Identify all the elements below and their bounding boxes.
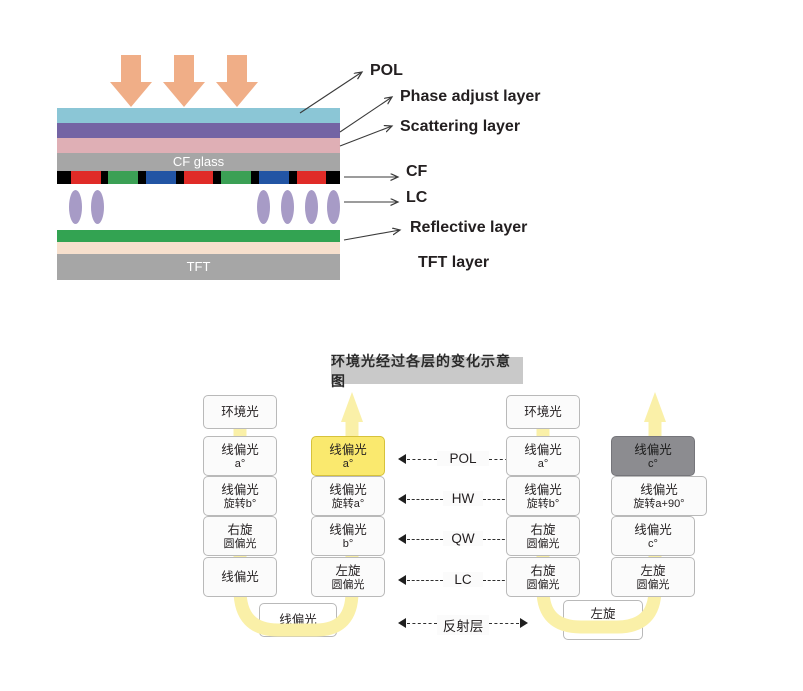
lc-molecule <box>327 190 340 224</box>
cf-color-segment <box>297 171 327 184</box>
arrow-left-icon <box>398 534 406 544</box>
callout-phase-adjust: Phase adjust layer <box>400 88 541 106</box>
arrow-left-icon <box>398 494 406 504</box>
arrow-shaft <box>174 55 194 83</box>
arrow-shaft <box>227 55 247 83</box>
dash-segment-left <box>407 623 437 624</box>
layer-pol <box>57 108 340 123</box>
flow-box-main-text: 线偏光 <box>329 443 367 458</box>
layer-scattering <box>57 138 340 153</box>
callout-reflective: Reflective layer <box>410 219 527 237</box>
flow-box-reflect-left: 线偏光 <box>259 603 337 637</box>
callout-tft: TFT layer <box>418 254 489 272</box>
flow-box-main-text: 线偏光 <box>221 570 259 585</box>
flow-box-col-1-incoming-left-right-circ: 右旋圆偏光 <box>203 516 277 556</box>
dash-segment-left <box>407 459 437 460</box>
callout-lc: LC <box>406 189 427 207</box>
flow-box-col-4-outgoing-right-linear-c2: 线偏光c° <box>611 516 695 556</box>
flow-box-main-text: 线偏光 <box>329 523 367 538</box>
cf-color-segment <box>146 171 176 184</box>
flow-box-col-4-outgoing-right-rotated-a90: 线偏光旋转a+90° <box>611 476 707 516</box>
reflective-lcd-cross-section-diagram: CF glass TFT POL Phase adjust layer Scat… <box>0 0 803 310</box>
flow-box-main-text: 线偏光 <box>640 483 678 498</box>
cf-color-segment <box>326 171 340 184</box>
flow-diagram-title: 环境光经过各层的变化示意图 <box>331 357 523 384</box>
arrow-shaft <box>121 55 141 83</box>
cf-color-segment <box>176 171 184 184</box>
flow-box-sub-text: 圆偏光 <box>527 579 560 591</box>
layer-phase-adjust <box>57 123 340 138</box>
layer-span-reflective: 反射层 <box>398 616 528 632</box>
lc-molecule <box>91 190 104 224</box>
lc-molecule <box>257 190 270 224</box>
layer-label-hw: HW <box>443 491 483 506</box>
leader-scattering <box>340 126 392 146</box>
incident-light-arrow-1 <box>110 55 152 107</box>
flow-box-col-3-incoming-right-ambient: 环境光 <box>506 395 580 429</box>
flow-box-col-2-outgoing-left-left-circ: 左旋圆偏光 <box>311 557 385 597</box>
flow-box-col-1-incoming-left-linear: 线偏光 <box>203 557 277 597</box>
callout-cf: CF <box>406 163 427 181</box>
arrow-head <box>216 82 258 107</box>
flow-box-col-4-outgoing-right-linear-c: 线偏光c° <box>611 436 695 476</box>
flow-box-sub-text: c° <box>648 538 658 550</box>
flow-box-col-3-incoming-right-linear-a: 线偏光a° <box>506 436 580 476</box>
callout-scattering: Scattering layer <box>400 118 520 136</box>
flow-box-main-text: 右旋 <box>227 523 252 538</box>
cf-glass-label: CF glass <box>57 154 340 169</box>
arrow-left-icon <box>398 575 406 585</box>
light-transformation-flow-diagram: 环境光经过各层的变化示意图 环境光线偏光a°线偏光旋转b°右旋圆偏光线偏光线偏光… <box>0 310 803 691</box>
lc-molecule <box>305 190 318 224</box>
flow-box-col-2-outgoing-left-linear-b: 线偏光b° <box>311 516 385 556</box>
flow-box-main-text: 线偏光 <box>329 483 367 498</box>
leader-reflective <box>344 230 400 240</box>
arrow-head <box>163 82 205 107</box>
layer-label-qw: QW <box>443 531 483 546</box>
layer-cf <box>57 171 340 184</box>
flow-box-main-text: 线偏光 <box>221 443 259 458</box>
cf-color-segment <box>57 171 71 184</box>
layer-lc-gap <box>57 184 340 230</box>
cf-color-segment <box>184 171 214 184</box>
flow-box-main-text: 左旋 <box>590 607 615 622</box>
lc-molecule <box>69 190 82 224</box>
lc-molecule <box>281 190 294 224</box>
flow-box-sub-text: 旋转b° <box>224 498 257 510</box>
flow-box-col-4-outgoing-right-left-circ: 左旋圆偏光 <box>611 557 695 597</box>
light-path-right-arrowhead <box>644 392 666 422</box>
flow-box-sub-text: b° <box>343 538 354 550</box>
flow-box-col-2-outgoing-left-rotated-a: 线偏光旋转a° <box>311 476 385 516</box>
arrow-left-icon <box>398 454 406 464</box>
flow-box-col-1-incoming-left-rotated-b: 线偏光旋转b° <box>203 476 277 516</box>
flow-box-main-text: 右旋 <box>530 523 555 538</box>
layer-planarization <box>57 242 340 254</box>
flow-box-sub-text: 圆偏光 <box>224 538 257 550</box>
flow-box-main-text: 环境光 <box>221 405 259 420</box>
flow-box-sub-text: 旋转b° <box>527 498 560 510</box>
flow-box-sub-text: a° <box>343 458 354 470</box>
flow-box-sub-text: c° <box>648 458 658 470</box>
flow-box-col-1-incoming-left-linear-a: 线偏光a° <box>203 436 277 476</box>
cf-color-segment <box>101 171 109 184</box>
arrow-right-icon <box>520 618 528 628</box>
dash-segment-left <box>407 499 443 500</box>
flow-box-sub-text: a° <box>538 458 549 470</box>
flow-box-main-text: 线偏光 <box>524 443 562 458</box>
callout-pol: POL <box>370 62 403 80</box>
flow-box-main-text: 线偏光 <box>634 443 672 458</box>
flow-box-main-text: 线偏光 <box>524 483 562 498</box>
flow-box-main-text: 左旋 <box>335 564 360 579</box>
flow-box-main-text: 左旋 <box>640 564 665 579</box>
cf-color-segment <box>71 171 101 184</box>
arrow-head <box>110 82 152 107</box>
flow-box-col-3-incoming-right-right-circ-2: 右旋圆偏光 <box>506 557 580 597</box>
flow-box-main-text: 线偏光 <box>279 613 317 628</box>
cf-color-segment <box>213 171 221 184</box>
incident-light-arrow-2 <box>163 55 205 107</box>
flow-box-main-text: 线偏光 <box>221 483 259 498</box>
dash-segment-left <box>407 580 443 581</box>
flow-box-main-text: 线偏光 <box>634 523 672 538</box>
cf-color-segment <box>251 171 259 184</box>
flow-box-col-1-incoming-left-ambient: 环境光 <box>203 395 277 429</box>
flow-box-sub-text: 圆偏光 <box>527 538 560 550</box>
flow-box-col-3-incoming-right-right-circ-1: 右旋圆偏光 <box>506 516 580 556</box>
cf-color-segment <box>259 171 289 184</box>
layer-reflective <box>57 230 340 242</box>
layer-label-pol: POL <box>437 451 489 466</box>
flow-box-main-text: 右旋 <box>530 564 555 579</box>
flow-box-sub-text: 圆偏光 <box>587 622 620 634</box>
flow-box-main-text: 环境光 <box>524 405 562 420</box>
cf-color-segment <box>138 171 146 184</box>
incident-light-arrow-3 <box>216 55 258 107</box>
layer-label-reflective: 反射层 <box>437 615 489 635</box>
leader-phase <box>340 97 392 132</box>
leader-pol <box>300 72 362 113</box>
flow-box-col-2-outgoing-left-linear-a: 线偏光a° <box>311 436 385 476</box>
arrow-left-icon <box>398 618 406 628</box>
light-path-left-arrowhead <box>341 392 363 422</box>
flow-box-col-3-incoming-right-rotated-b: 线偏光旋转b° <box>506 476 580 516</box>
layer-label-lc: LC <box>443 572 483 587</box>
flow-box-sub-text: 圆偏光 <box>637 579 670 591</box>
cf-color-segment <box>108 171 138 184</box>
cf-color-segment <box>289 171 297 184</box>
flow-box-reflect-right: 左旋圆偏光 <box>563 600 643 640</box>
flow-box-sub-text: 旋转a° <box>332 498 365 510</box>
flow-box-sub-text: 旋转a+90° <box>633 498 684 510</box>
tft-label: TFT <box>57 259 340 274</box>
flow-box-sub-text: 圆偏光 <box>332 579 365 591</box>
cf-color-segment <box>221 171 251 184</box>
flow-box-sub-text: a° <box>235 458 246 470</box>
dash-segment-left <box>407 539 443 540</box>
dash-segment-right <box>489 623 519 624</box>
